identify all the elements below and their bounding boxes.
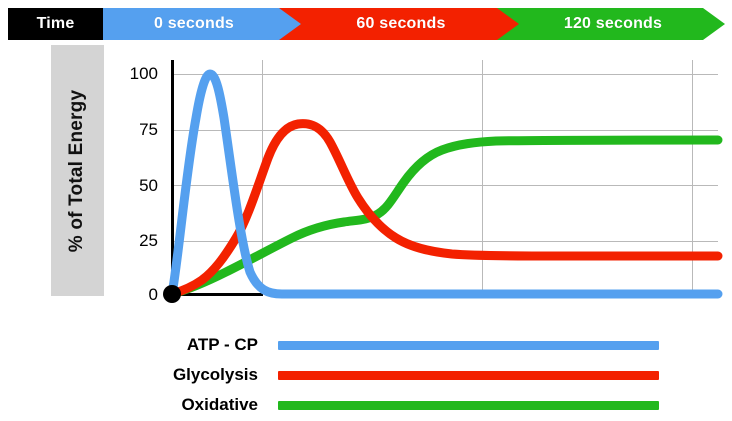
legend-item-oxidative: Oxidative <box>150 394 690 416</box>
timeline-segment-0-seconds: 0 seconds <box>103 8 301 40</box>
legend-swatch-atp-cp <box>278 341 659 350</box>
timeline-time-label: Time <box>8 8 103 40</box>
legend-label-oxidative: Oxidative <box>150 395 278 415</box>
legend-item-atp-cp: ATP - CP <box>150 334 690 356</box>
timeline-segment-120-seconds: 120 seconds <box>497 8 725 40</box>
chart-legend: ATP - CP Glycolysis Oxidative <box>150 334 690 414</box>
legend-swatch-oxidative <box>278 401 659 410</box>
chart-series-group <box>172 74 718 294</box>
timeline-banner: Time 0 seconds 60 seconds 120 seconds <box>8 8 725 40</box>
chart-page: Time 0 seconds 60 seconds 120 seconds % … <box>0 0 732 421</box>
legend-label-glycolysis: Glycolysis <box>150 365 278 385</box>
vertical-gridlines <box>263 60 693 296</box>
legend-label-atp-cp: ATP - CP <box>150 335 278 355</box>
origin-marker <box>163 285 181 303</box>
legend-swatch-glycolysis <box>278 371 659 380</box>
horizontal-gridlines <box>172 75 718 242</box>
timeline-segment-60-seconds: 60 seconds <box>279 8 519 40</box>
legend-item-glycolysis: Glycolysis <box>150 364 690 386</box>
